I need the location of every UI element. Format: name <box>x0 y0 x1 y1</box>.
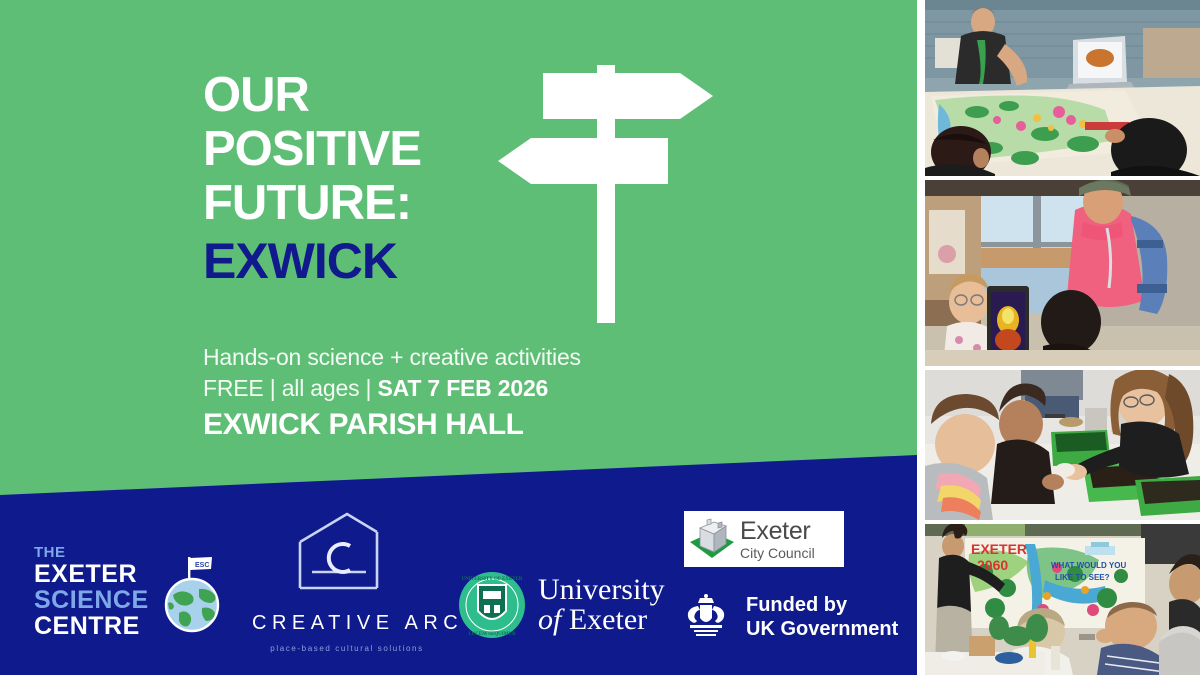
mural-text-exeter: EXETER <box>971 541 1027 557</box>
university-of-exeter-wordmark: University of Exeter <box>538 575 665 635</box>
admission-text: FREE | all ages | <box>203 375 378 401</box>
ukg-line-2: UK Government <box>746 617 898 641</box>
svg-text:LUCEM SEQUIMUR: LUCEM SEQUIMUR <box>468 632 516 637</box>
uoe-line-2: of Exeter <box>538 605 665 635</box>
photo-workshop-3d-map <box>925 0 1200 176</box>
esc-line-centre: CENTRE <box>34 614 149 639</box>
globe-with-flag-icon: ESC <box>159 551 225 633</box>
photo-thermal-camera-demo <box>925 180 1200 366</box>
photo-green-tray-activity <box>925 370 1200 520</box>
ecc-line-2: City Council <box>740 546 815 560</box>
sponsor-logo-bar: THE EXETER SCIENCE CENTRE ESC <box>0 495 917 675</box>
event-details: Hands-on science + creative activities F… <box>203 342 581 445</box>
mural-text-question-1: WHAT WOULD YOU <box>1051 561 1126 570</box>
logo-exeter-science-centre[interactable]: THE EXETER SCIENCE CENTRE ESC <box>34 545 225 639</box>
royal-coat-of-arms-icon <box>678 593 734 641</box>
esc-wordmark: THE EXETER SCIENCE CENTRE <box>34 545 149 639</box>
headline-line-1: OUR <box>203 68 421 122</box>
creative-arc-tagline: place-based cultural solutions <box>252 644 442 653</box>
logo-exeter-city-council[interactable]: Exeter City Council <box>684 511 844 567</box>
headline-line-3: FUTURE: <box>203 176 421 230</box>
logo-university-of-exeter[interactable]: UNIVERSITY OF EXETER LUCEM SEQUIMUR Univ… <box>458 571 665 639</box>
creative-arc-wordmark: CREATIVE ARC <box>252 612 442 635</box>
university-crest-icon: UNIVERSITY OF EXETER LUCEM SEQUIMUR <box>458 571 526 639</box>
ecc-line-1: Exeter <box>740 519 815 544</box>
ukg-line-1: Funded by <box>746 593 898 617</box>
exeter-city-council-wordmark: Exeter City Council <box>740 519 815 560</box>
logo-funded-by-uk-government[interactable]: Funded by UK Government <box>678 593 898 641</box>
left-green-panel: OUR POSITIVE FUTURE: EXWICK Hands-on sci… <box>0 0 917 675</box>
house-outline-c-icon <box>292 510 402 602</box>
svg-text:UNIVERSITY OF EXETER: UNIVERSITY OF EXETER <box>461 577 522 582</box>
svg-text:ESC: ESC <box>195 562 209 569</box>
esc-line-exeter: EXETER <box>34 562 149 587</box>
uk-government-wordmark: Funded by UK Government <box>746 593 898 641</box>
activities-line: Hands-on science + creative activities <box>203 342 581 373</box>
signpost-icon <box>498 55 713 325</box>
uoe-exeter: Exeter <box>561 603 647 636</box>
uoe-of: of <box>538 603 561 636</box>
castle-on-green-arrow-icon <box>688 516 736 562</box>
venue-line: EXWICK PARISH HALL <box>203 405 581 445</box>
event-date: SAT 7 FEB 2026 <box>378 375 549 401</box>
photo-strip: EXETER 2060 WHAT WOULD YOU LIKE TO SEE? <box>917 0 1200 675</box>
poster-canvas: OUR POSITIVE FUTURE: EXWICK Hands-on sci… <box>0 0 1200 675</box>
mural-text-question-2: LIKE TO SEE? <box>1055 573 1110 582</box>
headline-line-2: POSITIVE <box>203 122 421 176</box>
admission-and-date-line: FREE | all ages | SAT 7 FEB 2026 <box>203 373 581 404</box>
logo-creative-arc[interactable]: CREATIVE ARC place-based cultural soluti… <box>252 510 442 653</box>
photo-exeter-2060-mural: EXETER 2060 WHAT WOULD YOU LIKE TO SEE? <box>925 524 1200 675</box>
esc-line-the: THE <box>34 545 149 560</box>
headline-line-4-location: EXWICK <box>203 234 421 288</box>
esc-line-science: SCIENCE <box>34 588 149 613</box>
page-title: OUR POSITIVE FUTURE: EXWICK <box>203 68 421 288</box>
uoe-line-1: University <box>538 575 665 605</box>
